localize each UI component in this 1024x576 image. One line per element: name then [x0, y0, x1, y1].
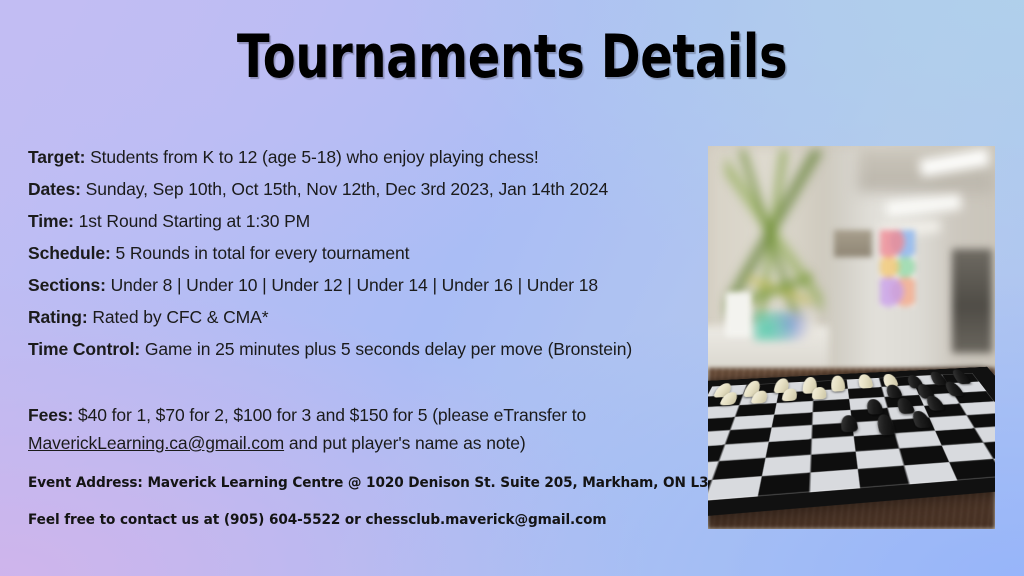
detail-row-time: Time: 1st Round Starting at 1:30 PM [28, 205, 688, 237]
detail-label: Time Control: [28, 339, 140, 359]
detail-label: Time: [28, 211, 74, 231]
chess-piece-black [884, 384, 902, 398]
detail-label: Schedule: [28, 243, 111, 263]
detail-row-dates: Dates: Sunday, Sep 10th, Oct 15th, Nov 1… [28, 173, 688, 205]
detail-row-sections: Sections: Under 8 | Under 10 | Under 12 … [28, 269, 688, 301]
chess-piece-black [895, 397, 915, 413]
footer-block: Event Address: Maverick Learning Centre … [28, 473, 728, 530]
fees-value: $40 for 1, $70 for 2, $100 for 3 and $15… [73, 405, 586, 425]
fees-line-2: MaverickLearning.ca@gmail.com and put pl… [28, 429, 708, 457]
details-list: Target: Students from K to 12 (age 5-18)… [28, 141, 688, 365]
chess-piece-white [858, 374, 874, 389]
chess-piece-black [840, 414, 858, 432]
chess-piece-white [812, 386, 827, 399]
slide-canvas: Tournaments Details Target: Students fro… [0, 0, 1024, 576]
event-address: Event Address: Maverick Learning Centre … [28, 473, 686, 493]
fees-line-1: Fees: $40 for 1, $70 for 2, $100 for 3 a… [28, 401, 708, 429]
detail-label: Target: [28, 147, 85, 167]
chess-piece-black [910, 410, 932, 428]
detail-label: Dates: [28, 179, 81, 199]
detail-row-rating: Rating: Rated by CFC & CMA* [28, 301, 688, 333]
photo-wall-box [834, 230, 871, 257]
page-title: Tournaments Details [102, 26, 921, 88]
detail-value: Students from K to 12 (age 5-18) who enj… [85, 147, 538, 167]
etransfer-email-link[interactable]: MaverickLearning.ca@gmail.com [28, 433, 284, 453]
detail-value: Sunday, Sep 10th, Oct 15th, Nov 12th, De… [81, 179, 608, 199]
detail-label: Sections: [28, 275, 106, 295]
photo-wall-posters [880, 230, 914, 307]
detail-label: Rating: [28, 307, 88, 327]
chess-piece-black [865, 398, 883, 414]
photo-bottle [725, 292, 751, 338]
chess-piece-black [876, 413, 897, 434]
detail-row-time-control: Time Control: Game in 25 minutes plus 5 … [28, 333, 688, 365]
detail-row-target: Target: Students from K to 12 (age 5-18)… [28, 141, 688, 173]
chess-piece-black [924, 395, 946, 410]
detail-value: Game in 25 minutes plus 5 seconds delay … [140, 339, 632, 359]
fees-label: Fees: [28, 405, 73, 425]
chessboard [708, 338, 995, 507]
detail-value: 1st Round Starting at 1:30 PM [74, 211, 310, 231]
chess-board-photo [708, 146, 995, 529]
detail-value: Under 8 | Under 10 | Under 12 | Under 14… [106, 275, 598, 295]
footer-spacer [28, 493, 728, 510]
fees-block: Fees: $40 for 1, $70 for 2, $100 for 3 a… [28, 401, 708, 457]
fees-note: and put player's name as note) [284, 433, 526, 453]
chess-pieces [708, 366, 995, 523]
detail-value: 5 Rounds in total for every tournament [111, 243, 410, 263]
detail-row-schedule: Schedule: 5 Rounds in total for every to… [28, 237, 688, 269]
contact-info: Feel free to contact us at (905) 604-552… [28, 510, 686, 530]
detail-value: Rated by CFC & CMA* [88, 307, 269, 327]
chessboard-frame [708, 366, 995, 523]
chess-piece-white [831, 375, 846, 391]
